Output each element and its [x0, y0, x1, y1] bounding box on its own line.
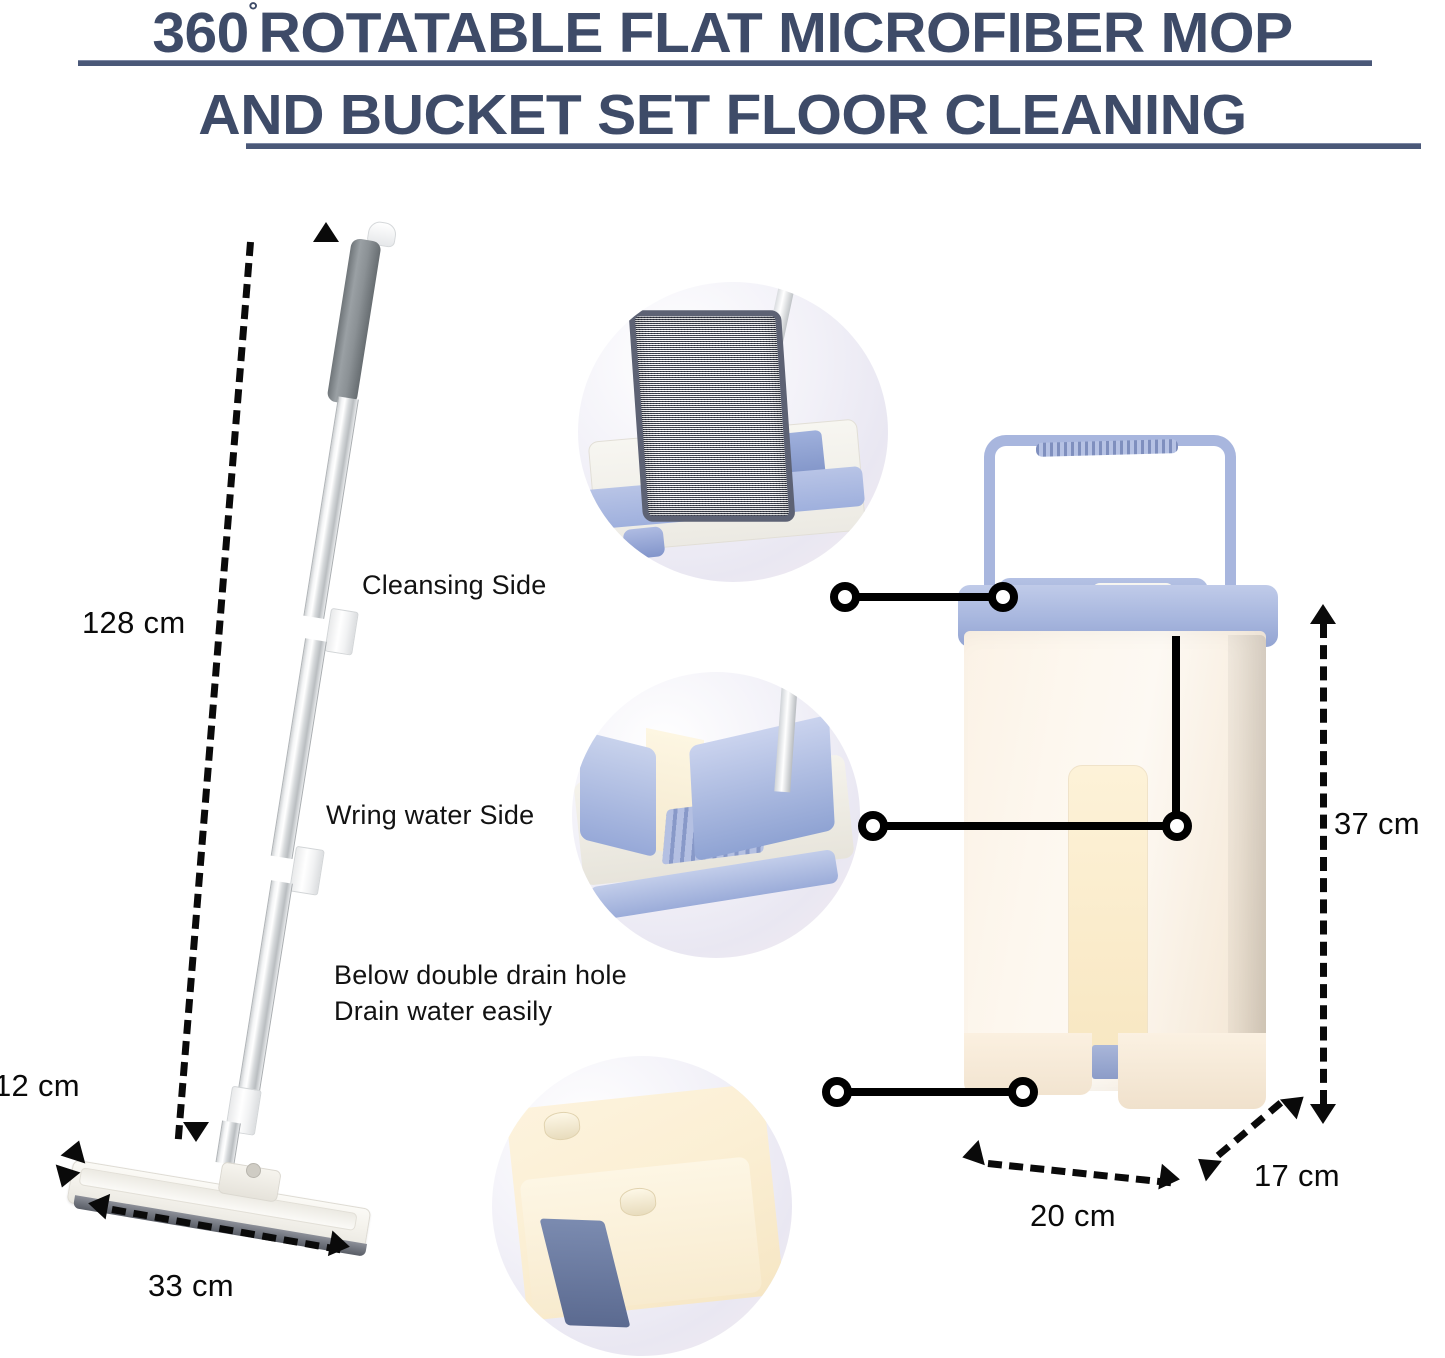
mop-pole-mid — [271, 638, 327, 859]
arrow-head-down-icon — [183, 1122, 209, 1142]
bucket-level-window — [1068, 765, 1148, 1057]
photo-cleansing-side-inner — [578, 282, 888, 582]
dimension-label-mop-height: 128 cm — [82, 605, 185, 641]
callout-ring-right-3 — [1008, 1077, 1038, 1107]
label-drain-note: Below double drain hole Drain water easi… — [334, 958, 627, 1029]
callout-line-3 — [838, 1088, 1020, 1096]
dimension-label-bucket-width: 20 cm — [1030, 1198, 1116, 1234]
photo-drain-hole — [492, 1056, 792, 1356]
photo-wring-side — [572, 672, 860, 958]
bucket-foot-right — [1118, 1033, 1266, 1109]
title-360: 360 — [152, 1, 248, 65]
infographic-canvas: 360˚ROTATABLE FLAT MICROFIBER MOP AND BU… — [0, 0, 1445, 1358]
dimension-label-bucket-depth: 17 cm — [1254, 1158, 1340, 1194]
dimension-label-mop-width: 33 cm — [148, 1268, 234, 1304]
title-line-1-rest: ROTATABLE FLAT MICROFIBER MOP — [259, 1, 1293, 65]
title-line-1: 360˚ROTATABLE FLAT MICROFIBER MOP — [0, 4, 1445, 62]
degree-icon: ˚ — [249, 0, 259, 33]
photo-drain-hole-inner — [492, 1056, 792, 1356]
microfiber-pad-texture — [628, 310, 795, 521]
dimension-dash-line-bucket-height — [1320, 624, 1327, 1104]
callout-ring-right-2 — [1162, 811, 1192, 841]
callout-line-2-vertical — [1172, 636, 1180, 830]
bucket-side-shading — [1228, 635, 1266, 1083]
callout-ring-right-1 — [988, 582, 1018, 612]
mop-pole-upper — [303, 396, 358, 619]
label-wring-water-side: Wring water Side — [326, 800, 534, 831]
mop-head-pivot-icon — [246, 1163, 261, 1178]
callout-line-2-horizontal — [875, 822, 1180, 830]
arrow-head-up-bucket-icon — [1310, 604, 1336, 624]
bucket-knob-shape — [623, 526, 666, 560]
title-underline-1 — [78, 60, 1372, 66]
callout-ring-left-1 — [830, 582, 860, 612]
mop-grip — [326, 238, 381, 406]
arrow-head-right-bucket-icon — [1158, 1164, 1181, 1193]
callout-ring-left-2 — [858, 811, 888, 841]
arrow-head-down-bucket-icon — [1310, 1104, 1336, 1124]
title-underline-2 — [246, 143, 1421, 149]
dimension-label-bucket-height: 37 cm — [1334, 806, 1420, 842]
wring-left-wall-shape — [580, 731, 656, 858]
mop-collar-upper — [324, 608, 359, 656]
callout-ring-left-3 — [822, 1077, 852, 1107]
mop-pole-lower — [237, 880, 293, 1099]
arrow-head-up-icon — [313, 222, 339, 242]
title-line-2: AND BUCKET SET FLOOR CLEANING — [0, 86, 1445, 144]
dimension-label-mop-thickness: 12 cm — [0, 1068, 80, 1104]
mop-collar-mid — [289, 846, 325, 896]
arrow-head-left-bucket-icon — [959, 1140, 985, 1170]
bucket-illustration — [950, 435, 1290, 1125]
dimension-dash-line-bucket-width — [988, 1160, 1172, 1186]
callout-line-1 — [845, 593, 1003, 601]
photo-wring-side-inner — [572, 672, 860, 958]
photo-cleansing-side — [578, 282, 888, 582]
label-cleansing-side: Cleansing Side — [362, 570, 546, 601]
bucket-bottom-notch — [1092, 1045, 1120, 1079]
